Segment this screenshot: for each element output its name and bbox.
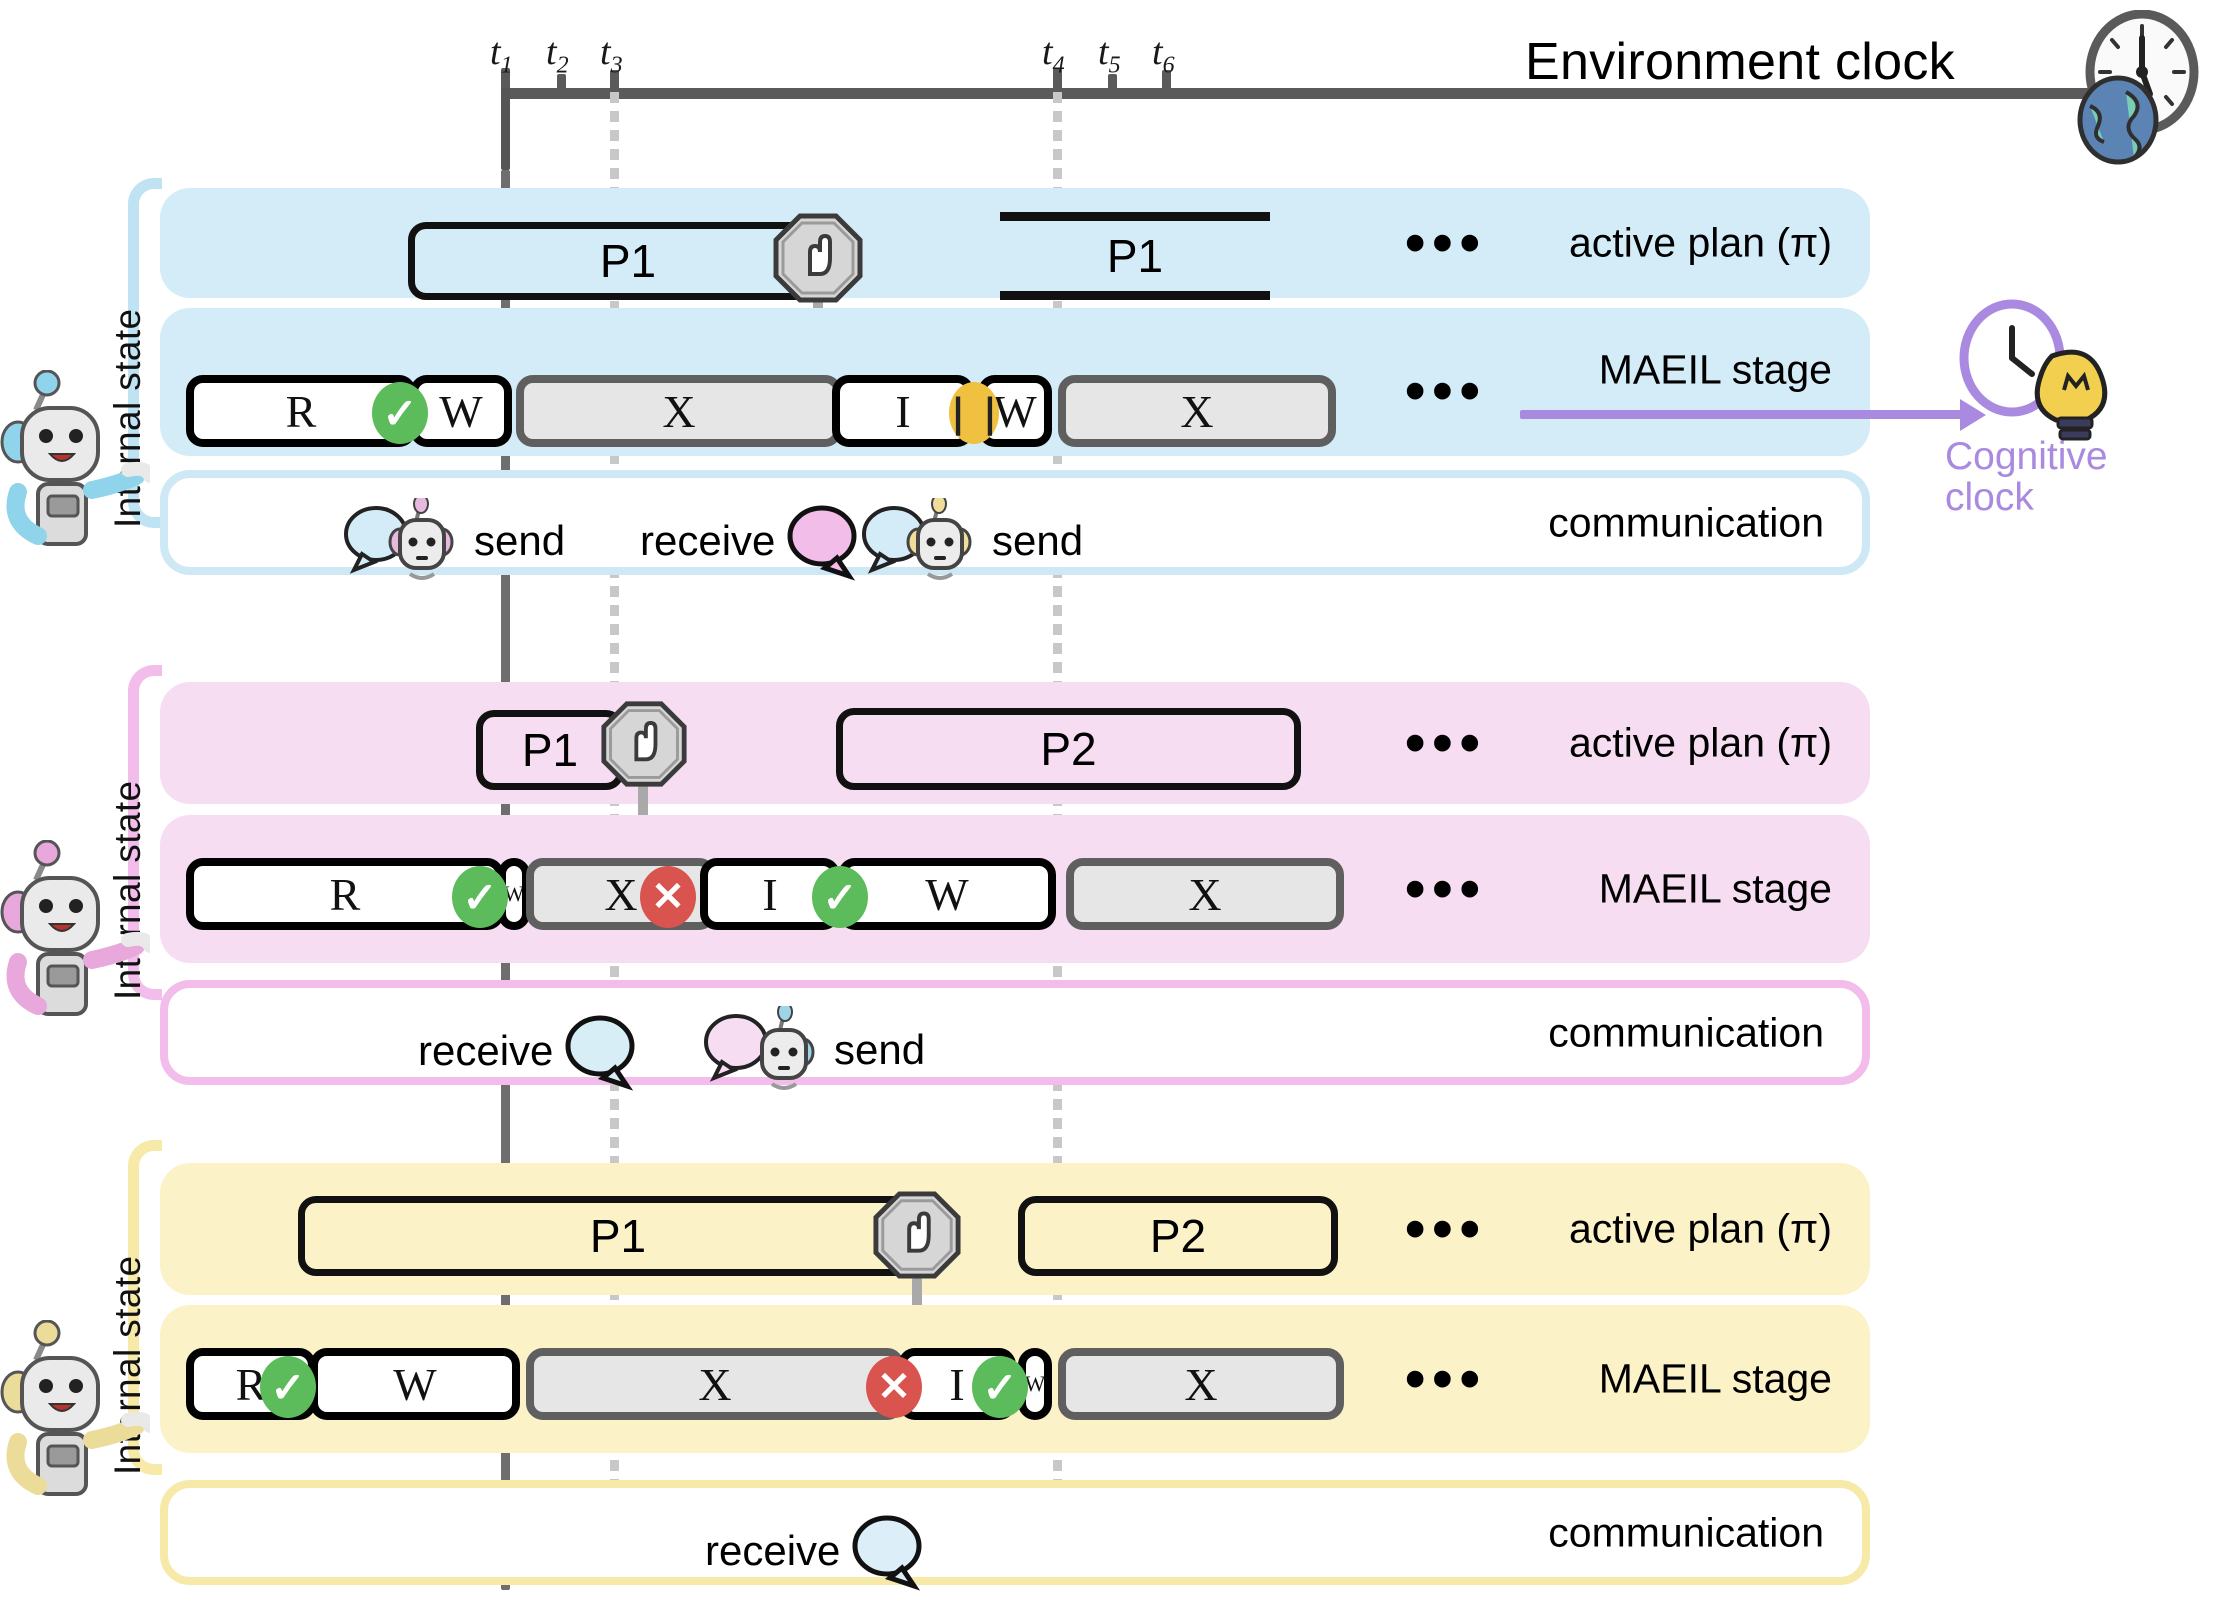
agent-3-stage-w1-label: W (393, 1358, 436, 1411)
agent-3-plan-p1-label: P1 (590, 1209, 646, 1263)
agent-2-plan-p2-label: P2 (1040, 722, 1096, 776)
agent-2-comm-send[interactable]: send (700, 1006, 925, 1094)
agent-1-comm-receive[interactable]: receive (640, 498, 865, 584)
agent-3-stop-icon (872, 1190, 962, 1280)
agent-1-stage-i-label: I (895, 385, 910, 438)
agent-2-robot-icon (0, 840, 150, 1030)
agent-2-plan-ellipsis: ••• (1405, 731, 1487, 754)
robot-with-pink-bubble-icon (700, 1006, 830, 1094)
agent-3-stage-w1[interactable]: W (310, 1348, 520, 1420)
agent-3-marker-success-1: ✓ (260, 1356, 316, 1418)
agent-1-plan-p1-continued[interactable]: P1 (1000, 212, 1270, 300)
agent-2-comm-receive-label: receive (418, 1027, 553, 1075)
agent-1-plan-p1-continued-label: P1 (1107, 229, 1163, 283)
agent-1-comm-send-1[interactable]: send (340, 498, 565, 584)
diagram-canvas: t1 t2 t3 t4 t5 t6 Environment clock (0, 0, 2218, 1612)
agent-1-comm-receive-label: receive (640, 517, 775, 565)
agent-1-stage-w1-label: W (439, 385, 482, 438)
cognitive-clock-arrow (1520, 410, 1962, 419)
agent-3-stage-i-label: I (949, 1358, 964, 1411)
agent-3-plan-p2-label: P2 (1150, 1209, 1206, 1263)
tick-label-t2: t2 (546, 30, 569, 80)
agent-3-plan-p1[interactable]: P1 (298, 1196, 938, 1276)
agent-1-plan-ellipsis: ••• (1405, 231, 1487, 254)
pink-bubble-icon (779, 498, 865, 584)
agent-1-comm-lane-label: communication (1548, 499, 1824, 546)
agent-3-marker-success-2: ✓ (972, 1356, 1028, 1418)
agent-2-stop-icon (600, 700, 688, 788)
agent-1-stage-lane-label: MAEIL stage (1599, 347, 1832, 394)
agent-2-comm-receive[interactable]: receive (418, 1008, 643, 1094)
agent-2-comm-lane-label: communication (1548, 1009, 1824, 1056)
agent-3-stage-x2[interactable]: X (1058, 1348, 1344, 1420)
agent-3-comm-lane-label: communication (1548, 1509, 1824, 1556)
agent-3-stage-x1-label: X (698, 1358, 731, 1411)
agent-2-marker-fail: ✕ (640, 866, 696, 928)
agent-2-stage-i-label: I (762, 868, 777, 921)
agent-1-comm-send-1-label: send (474, 517, 565, 565)
agent-1-stage-r-label: R (286, 385, 317, 438)
agent-3-stage-lane-label: MAEIL stage (1599, 1356, 1832, 1403)
agent-1-stop-icon (772, 212, 864, 304)
agent-2-stage-w2[interactable]: W (838, 858, 1056, 930)
agent-1-plan-p1-label: P1 (600, 234, 656, 288)
agent-2-plan-p1-label: P1 (522, 723, 578, 777)
tick-label-t5: t5 (1098, 30, 1121, 80)
tick-label-t4: t4 (1042, 30, 1065, 80)
agent-2-comm-lane: communication (160, 980, 1870, 1085)
agent-1-marker-pause: ❘❘ (949, 382, 999, 444)
agent-3-stage-x2-label: X (1184, 1358, 1217, 1411)
agent-3-stage-ellipsis: ••• (1405, 1367, 1487, 1390)
environment-clock-label: Environment clock (1525, 32, 1955, 92)
agent-2-stage-x2[interactable]: X (1066, 858, 1344, 930)
agent-1-stage-x1-label: X (662, 385, 695, 438)
agent-2-stage-w2-label: W (925, 868, 968, 921)
agent-3-plan-lane-label: active plan (π) (1569, 1206, 1832, 1253)
agent-2-marker-success-2: ✓ (812, 866, 868, 928)
agent-2-stage-x1-label: X (604, 868, 637, 921)
cognitive-clock-label: Cognitive clock (1945, 437, 2108, 519)
environment-clock-icon (2060, 10, 2200, 170)
agent-1-comm-send-2-label: send (992, 517, 1083, 565)
tick-label-t3: t3 (600, 30, 623, 80)
agent-3-comm-receive-label: receive (705, 1527, 840, 1575)
agent-2-marker-success-1: ✓ (452, 866, 508, 928)
agent-2-comm-send-label: send (834, 1026, 925, 1074)
agent-3-plan-p2[interactable]: P2 (1018, 1196, 1338, 1276)
agent-2-plan-p2[interactable]: P2 (836, 708, 1301, 790)
robot-with-blue-bubble-icon-2 (858, 498, 988, 584)
agent-2-stage-lane-label: MAEIL stage (1599, 866, 1832, 913)
agent-2-stage-ellipsis: ••• (1405, 877, 1487, 900)
guideline-t1-top (501, 88, 510, 170)
blue-bubble-icon-2 (844, 1508, 930, 1594)
agent-3-marker-fail: ✕ (866, 1356, 922, 1418)
agent-1-stage-ellipsis: ••• (1405, 379, 1487, 402)
agent-1-comm-send-2[interactable]: send (858, 498, 1083, 584)
agent-1-stage-x2-label: X (1180, 385, 1213, 438)
tick-label-t6: t6 (1152, 30, 1175, 80)
agent-1-robot-icon (0, 370, 150, 560)
agent-1-stage-x1[interactable]: X (516, 375, 842, 447)
agent-3-plan-ellipsis: ••• (1405, 1217, 1487, 1240)
agent-1-stage-x2[interactable]: X (1058, 375, 1336, 447)
agent-2-plan-lane-label: active plan (π) (1569, 720, 1832, 767)
agent-1-marker-success: ✓ (372, 382, 428, 444)
robot-with-blue-bubble-icon (340, 498, 470, 584)
cognitive-clock-label-line2: clock (1945, 478, 2108, 519)
agent-1-plan-lane-label: active plan (π) (1569, 220, 1832, 267)
agent-3-robot-icon (0, 1320, 150, 1510)
agent-2-stage-r-label: R (330, 868, 361, 921)
agent-2-stage-x2-label: X (1188, 868, 1221, 921)
agent-3-comm-lane: communication (160, 1480, 1870, 1585)
tick-label-t1: t1 (490, 30, 513, 80)
blue-bubble-icon (557, 1008, 643, 1094)
agent-3-stage-x1[interactable]: X (526, 1348, 904, 1420)
cognitive-clock-label-line1: Cognitive (1945, 437, 2108, 478)
agent-3-comm-receive[interactable]: receive (705, 1508, 930, 1594)
